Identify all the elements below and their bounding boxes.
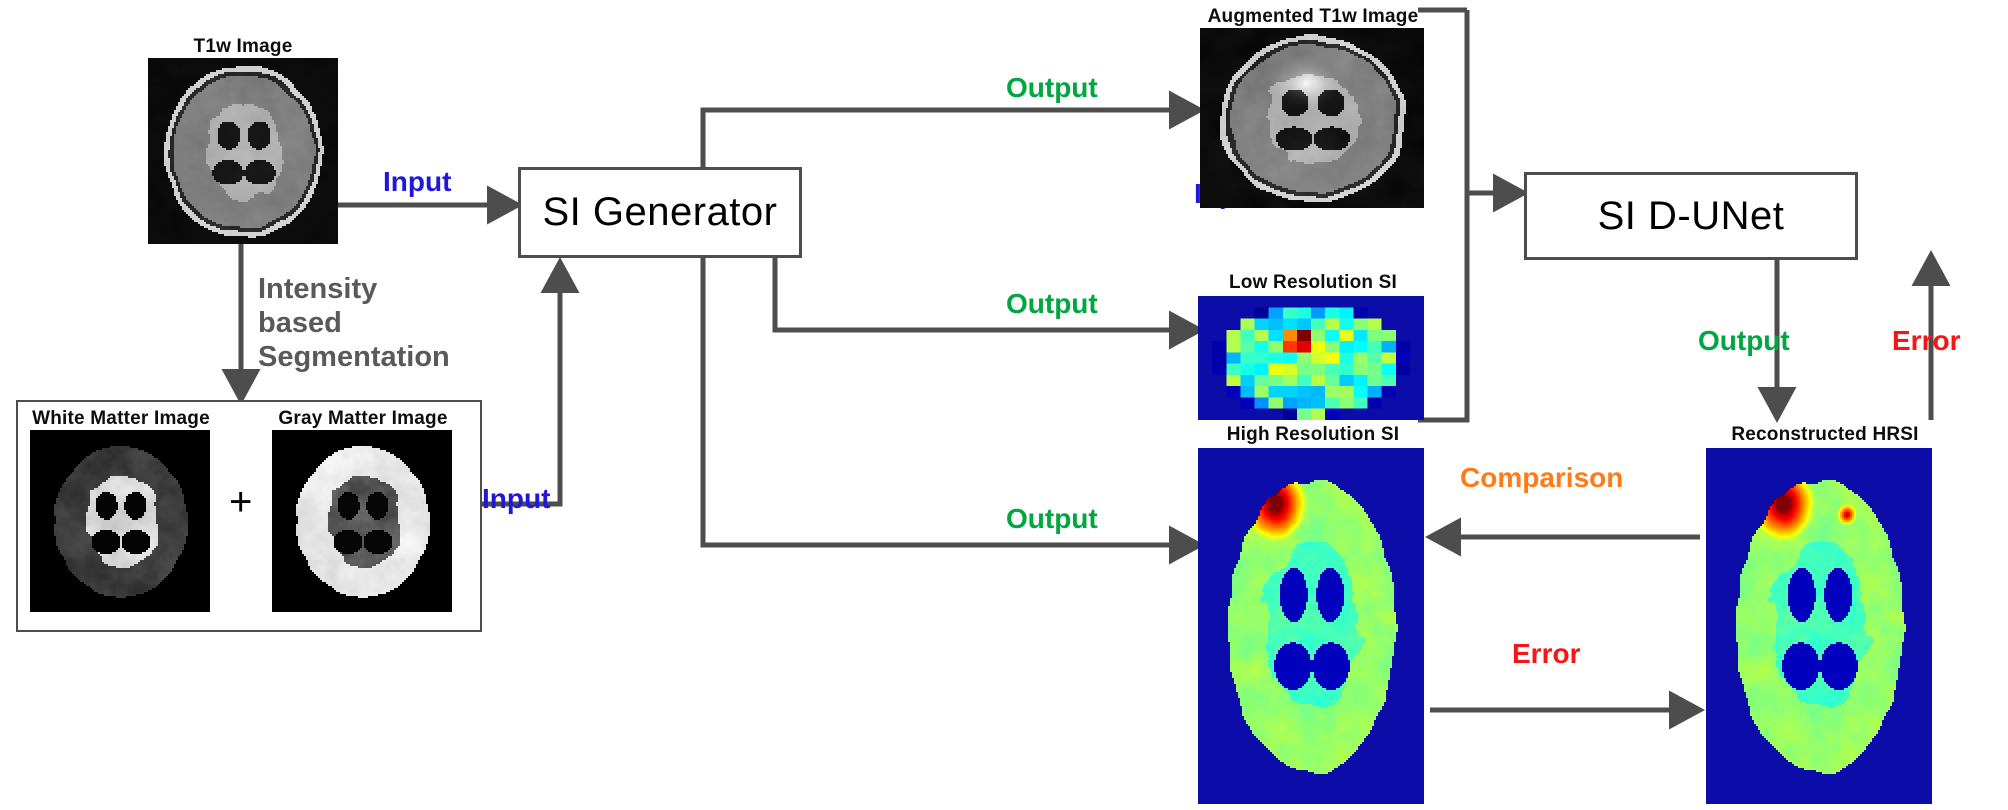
t1w-canvas: [148, 58, 338, 244]
edge-label-error-dunet: Error: [1892, 325, 1960, 357]
caption-white-matter: White Matter Image: [26, 408, 216, 430]
image-low-res-si: [1198, 296, 1424, 420]
caption-gray-matter: Gray Matter Image: [268, 408, 458, 430]
caption-t1w: T1w Image: [148, 36, 338, 58]
image-gray-matter: [272, 430, 452, 612]
image-white-matter: [30, 430, 210, 612]
reconstructed-hrsi-canvas: [1706, 448, 1932, 804]
si-dunet-label: SI D-UNet: [1598, 194, 1785, 239]
edge-label-input-t1w: Input: [383, 166, 451, 198]
edge-label-error-comparison: Error: [1512, 638, 1580, 670]
edge-label-output-low-res: Output: [1006, 288, 1098, 320]
si-generator-box[interactable]: SI Generator: [518, 167, 802, 258]
gray-matter-canvas: [272, 430, 452, 612]
edge-label-output-high-res: Output: [1006, 503, 1098, 535]
augmented-t1w-canvas: [1200, 28, 1424, 208]
caption-low-res-si: Low Resolution SI: [1196, 272, 1430, 294]
high-res-si-canvas: [1198, 448, 1424, 804]
combine-operator: +: [229, 480, 252, 525]
edge-label-output-augmented-t1w: Output: [1006, 72, 1098, 104]
edge-label-input-segments: Input: [482, 483, 550, 515]
caption-high-res-si: High Resolution SI: [1196, 424, 1430, 446]
low-res-si-canvas: [1198, 296, 1424, 420]
caption-reconstructed-hrsi: Reconstructed HRSI: [1700, 424, 1950, 446]
image-augmented-t1w: [1200, 28, 1424, 208]
white-matter-canvas: [30, 430, 210, 612]
caption-augmented-t1w: Augmented T1w Image: [1196, 6, 1430, 28]
image-reconstructed-hrsi: [1706, 448, 1932, 804]
edge-label-output-dunet: Output: [1698, 325, 1790, 357]
edge-label-comparison: Comparison: [1460, 462, 1623, 494]
image-high-res-si: [1198, 448, 1424, 804]
image-t1w: [148, 58, 338, 244]
si-generator-label: SI Generator: [542, 190, 777, 235]
edge-label-segmentation: Intensity based Segmentation: [258, 272, 468, 375]
si-dunet-box[interactable]: SI D-UNet: [1524, 172, 1858, 260]
